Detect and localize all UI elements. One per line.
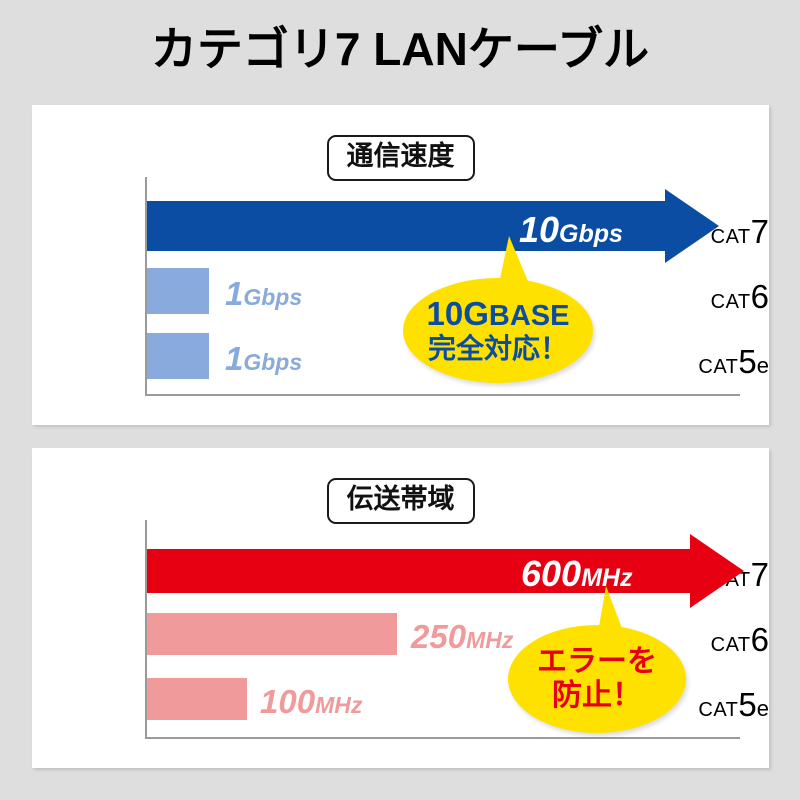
cat-number: 5 (738, 686, 756, 723)
speed-cat-label-cat6: CAT6 (666, 280, 769, 313)
value-number: 100 (260, 683, 315, 720)
value-number: 600 (521, 553, 581, 594)
value-unit: Gbps (243, 284, 302, 310)
speed-bar-cat5e (147, 333, 209, 379)
cat-number: 6 (751, 278, 769, 315)
value-unit: MHz (315, 692, 362, 718)
panel-transmission-bandwidth: 伝送帯域 CAT7 CAT6 CAT5e 600MHz 250MHz 100MH… (32, 448, 769, 768)
bandwidth-value-cat5e: 100MHz (260, 685, 362, 718)
value-number: 1 (225, 340, 243, 377)
balloon-10gbase-line1-small: BASE (489, 300, 570, 332)
value-number: 1 (225, 275, 243, 312)
panel-caption-bandwidth: 伝送帯域 (327, 478, 475, 524)
cat-number: 7 (751, 213, 769, 250)
value-unit: Gbps (559, 220, 623, 248)
bandwidth-cat-label-cat6: CAT6 (666, 623, 769, 656)
cat-suffix: e (757, 696, 769, 721)
cat-number: 6 (751, 621, 769, 658)
panel-caption-speed: 通信速度 (327, 135, 475, 181)
bandwidth-bar-cat6 (147, 613, 397, 655)
balloon-10gbase-line2: 完全対応！ (428, 333, 568, 364)
cat-word: CAT (711, 634, 751, 656)
panel-communication-speed: 通信速度 CAT7 CAT6 CAT5e 10Gbps 1Gbps 1Gbps (32, 105, 769, 425)
speed-axis-horizontal (145, 394, 740, 396)
cat-suffix: e (757, 353, 769, 378)
bandwidth-bar-cat7-arrowhead (690, 534, 744, 608)
cat-word: CAT (698, 699, 738, 721)
cat-number: 7 (751, 556, 769, 593)
cat-word: CAT (711, 291, 751, 313)
speed-bar-cat7-arrowhead (665, 189, 719, 263)
infographic-page: カテゴリ7 LANケーブル 通信速度 CAT7 CAT6 CAT5e 10Gbp… (0, 0, 800, 800)
balloon-error-line2: 防止！ (552, 679, 642, 713)
speed-bar-cat6 (147, 268, 209, 314)
balloon-10gbase-line1: 10GBASE (427, 296, 570, 333)
cat-number: 5 (738, 343, 756, 380)
bandwidth-value-cat6: 250MHz (411, 620, 513, 653)
balloon-error-prevention: エラーを 防止！ (508, 625, 686, 733)
balloon-10gbase: 10GBASE 完全対応！ (403, 278, 593, 383)
value-number: 250 (411, 618, 466, 655)
bandwidth-bar-cat5e (147, 678, 247, 720)
speed-value-cat5e: 1Gbps (225, 342, 302, 375)
speed-cat-label-cat5e: CAT5e (666, 345, 769, 378)
page-title: カテゴリ7 LANケーブル (0, 20, 800, 78)
cat-word: CAT (698, 356, 738, 378)
value-unit: MHz (466, 627, 513, 653)
value-unit: Gbps (243, 349, 302, 375)
balloon-10gbase-line1-big: 10G (427, 295, 489, 332)
balloon-error-line1: エラーを (537, 645, 657, 679)
speed-value-cat6: 1Gbps (225, 277, 302, 310)
bandwidth-axis-horizontal (145, 737, 740, 739)
